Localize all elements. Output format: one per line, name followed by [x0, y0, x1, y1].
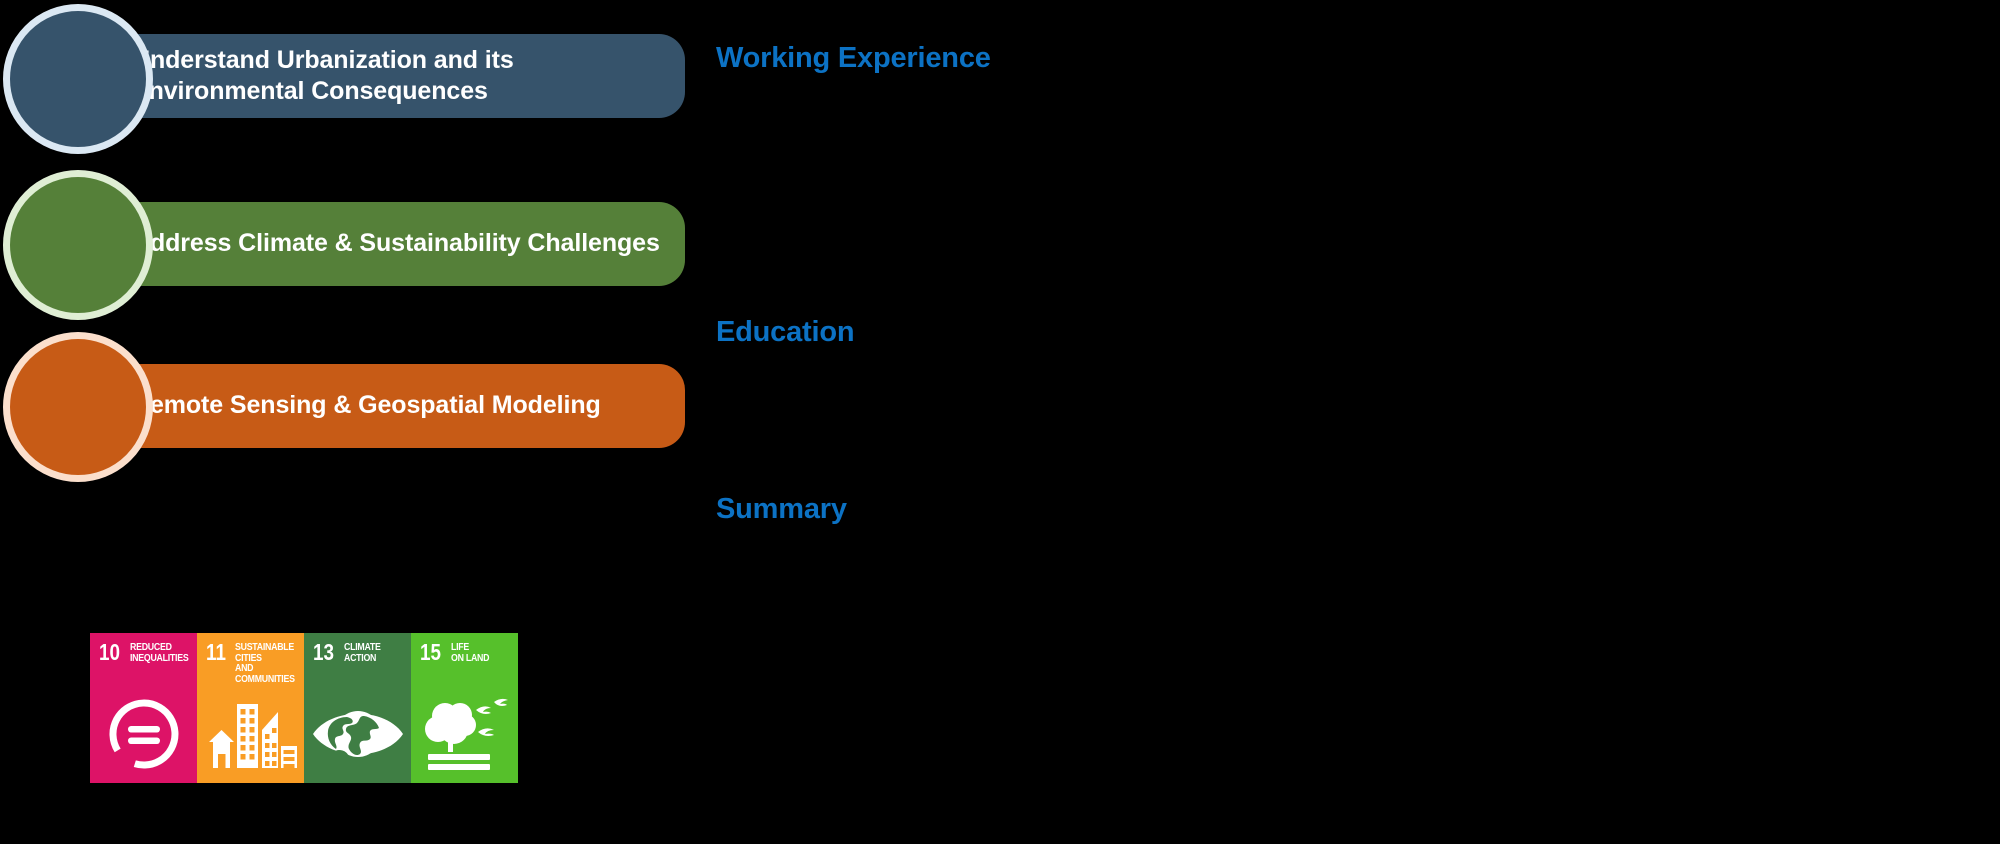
city-buildings-icon [197, 693, 304, 775]
sdg-tile-10: 10 REDUCED INEQUALITIES [90, 633, 197, 783]
sdg-tile-15: 15 LIFE ON LAND [411, 633, 518, 783]
section-heading-education: Education [716, 316, 854, 349]
focus-bar-climate: Address Climate & Sustainability Challen… [60, 202, 685, 286]
sdg-title-15: LIFE ON LAND [451, 643, 489, 664]
focus-bar-remote-sensing: Remote Sensing & Geospatial Modeling [60, 364, 685, 448]
sdg-tile-13: 13 CLIMATE ACTION [304, 633, 411, 783]
focus-label-urbanization: Understand Urbanization and its Environm… [60, 45, 685, 108]
section-heading-summary: Summary [716, 493, 847, 526]
sdg-number-10: 10 [99, 642, 120, 663]
focus-bar-urbanization: Understand Urbanization and its Environm… [60, 34, 685, 118]
equals-in-circle-icon [90, 693, 197, 775]
sdg-title-10: REDUCED INEQUALITIES [130, 643, 188, 664]
sdg-number-13: 13 [313, 642, 334, 663]
focus-circle-remote-sensing [3, 332, 153, 482]
sdg-head-13: 13 CLIMATE ACTION [304, 633, 411, 664]
sdg-number-11: 11 [206, 642, 226, 663]
sdg-number-15: 15 [420, 642, 441, 663]
focus-circle-urbanization [3, 4, 153, 154]
sdg-head-15: 15 LIFE ON LAND [411, 633, 518, 664]
sdg-tile-11: 11 SUSTAINABLE CITIES AND COMMUNITIES [197, 633, 304, 783]
tree-birds-icon [411, 693, 518, 775]
section-heading-working-experience: Working Experience [716, 42, 991, 75]
sdg-head-11: 11 SUSTAINABLE CITIES AND COMMUNITIES [197, 633, 304, 685]
eye-globe-icon [304, 693, 411, 775]
sdg-title-13: CLIMATE ACTION [344, 643, 381, 664]
sdg-head-10: 10 REDUCED INEQUALITIES [90, 633, 197, 664]
focus-circle-climate [3, 170, 153, 320]
sdg-title-11: SUSTAINABLE CITIES AND COMMUNITIES [235, 643, 295, 685]
sdg-goals-strip: 10 REDUCED INEQUALITIES 11 SUSTAINABLE C… [90, 633, 518, 783]
